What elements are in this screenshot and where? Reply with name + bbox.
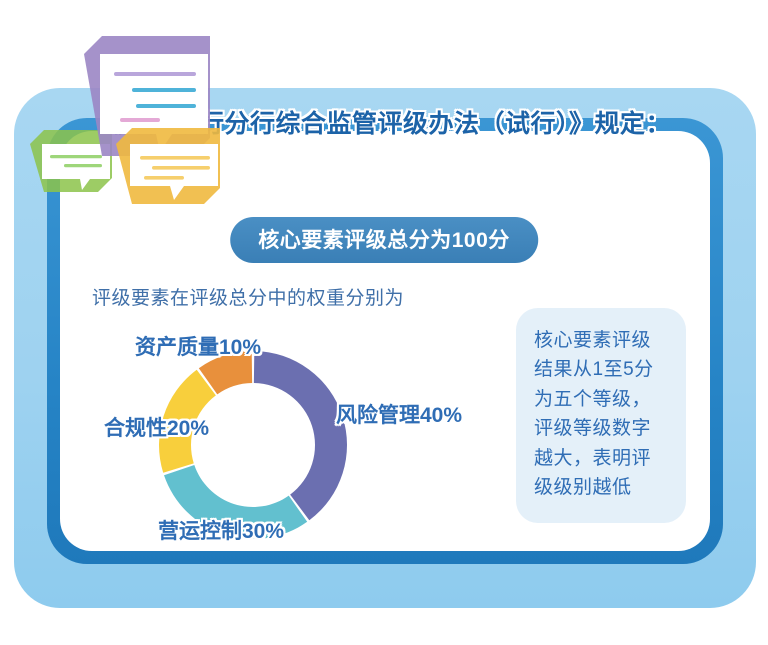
donut-slice <box>254 351 347 520</box>
slice-label-risk-management: 风险管理40% <box>336 399 462 429</box>
slice-label-compliance: 合规性20% <box>104 412 209 442</box>
speech-bubble-yellow-icon <box>116 128 220 204</box>
status-badge: 核心要素评级总分为100分 <box>230 217 538 263</box>
chart-subheading: 评级要素在评级总分中的权重分别为 <box>92 283 404 310</box>
speech-bubble-decoration <box>24 16 254 206</box>
infographic-stage: 《外国银行分行综合监管评级办法（试行）》规定： 核心要素评级总分为100分 评级… <box>0 0 768 645</box>
info-callout-box: 核心要素评级结果从1至5分为五个等级，评级等级数字越大，表明评级级别越低 <box>516 308 686 523</box>
slice-label-operational-control: 营运控制30% <box>158 515 284 545</box>
slice-label-asset-quality: 资产质量10% <box>135 331 261 361</box>
